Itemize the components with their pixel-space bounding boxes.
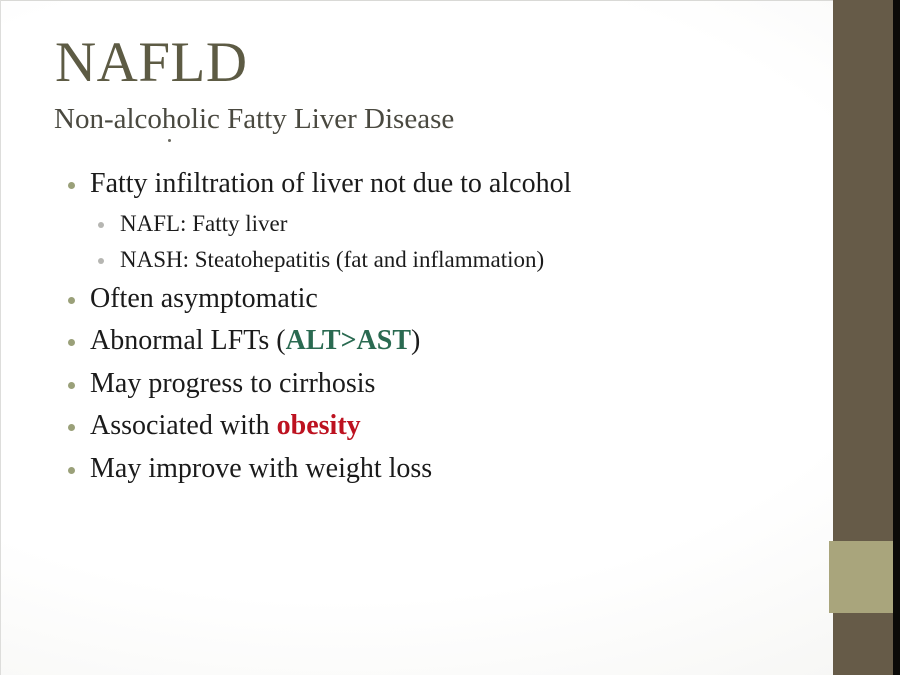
stray-dot-artifact	[168, 139, 171, 142]
bullet-text: NASH: Steatohepatitis (fat and inflammat…	[120, 247, 544, 272]
bullet-text: Abnormal LFTs (	[90, 325, 286, 356]
bullet-item: May improve with weight loss	[60, 448, 820, 491]
sidebar-dark-edge	[893, 0, 900, 675]
sidebar-accent-block	[829, 541, 893, 613]
bullet-dot-icon	[68, 297, 75, 304]
slide-title: NAFLD	[55, 32, 248, 94]
slide-bullet-list: Fatty infiltration of liver not due to a…	[60, 163, 820, 490]
bullet-text: May improve with weight loss	[90, 453, 432, 484]
bullet-dot-icon	[68, 424, 75, 431]
bullet-text: NAFL: Fatty liver	[120, 211, 287, 236]
decorative-sidebar	[833, 0, 893, 675]
bullet-text: May progress to cirrhosis	[90, 368, 375, 399]
bullet-text: Associated with	[90, 410, 277, 441]
emphasis-red-text: obesity	[277, 410, 361, 441]
bullet-dot-icon	[98, 258, 104, 264]
bullet-dot-icon	[68, 182, 75, 189]
slide-canvas: NAFLD Non-alcoholic Fatty Liver Disease …	[0, 0, 900, 675]
bullet-dot-icon	[98, 222, 104, 228]
slide-subtitle: Non-alcoholic Fatty Liver Disease	[54, 104, 454, 136]
bullet-item: NASH: Steatohepatitis (fat and inflammat…	[60, 242, 820, 278]
bullet-item: Often asymptomatic	[60, 278, 820, 321]
bullet-dot-icon	[68, 382, 75, 389]
bullet-item: Associated with obesity	[60, 405, 820, 448]
bullet-item: May progress to cirrhosis	[60, 363, 820, 406]
bullet-text: )	[411, 325, 420, 356]
bullet-item: NAFL: Fatty liver	[60, 206, 820, 242]
bullet-text: Fatty infiltration of liver not due to a…	[90, 168, 571, 199]
slide-top-border	[0, 0, 900, 1]
emphasis-green-text: ALT>AST	[286, 325, 411, 356]
bullet-item: Abnormal LFTs (ALT>AST)	[60, 320, 820, 363]
bullet-dot-icon	[68, 467, 75, 474]
slide-left-border	[0, 0, 1, 675]
bullet-item: Fatty infiltration of liver not due to a…	[60, 163, 820, 206]
bullet-dot-icon	[68, 339, 75, 346]
bullet-text: Often asymptomatic	[90, 283, 318, 314]
